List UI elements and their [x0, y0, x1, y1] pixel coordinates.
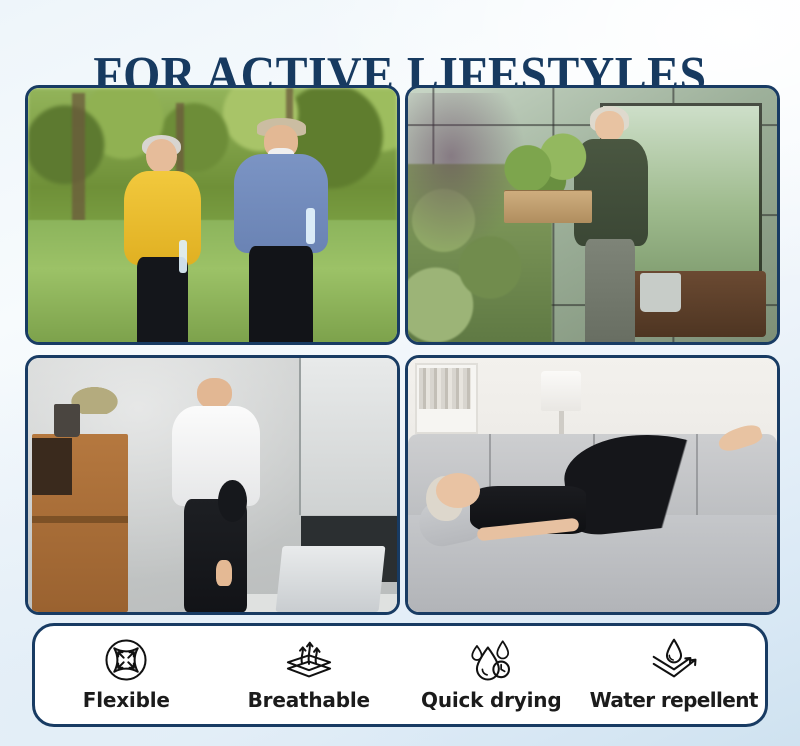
feature-flexible: Flexible [35, 626, 218, 724]
white-tshirt [172, 406, 260, 505]
water-drop-clock-icon [465, 634, 517, 686]
wooden-crate [504, 190, 593, 223]
laptop [275, 546, 385, 612]
photo-grid [25, 85, 780, 615]
feature-label: Flexible [83, 688, 170, 712]
figure-senior-man [227, 118, 334, 342]
photo-card-stretching-man [25, 355, 400, 615]
feature-label: Water repellent [590, 688, 758, 712]
photo-gardening-woman [408, 88, 777, 342]
feature-water-repellent: Water repellent [583, 626, 766, 724]
feature-label: Quick drying [421, 688, 561, 712]
head [197, 378, 232, 409]
black-trousers [249, 246, 313, 342]
books [419, 368, 471, 409]
raised-knee [218, 480, 247, 523]
clipped-top-text [0, 0, 800, 3]
head [436, 473, 480, 507]
stretch-arrows-icon [101, 634, 151, 686]
yellow-sweater [124, 171, 201, 264]
park-lawn [28, 220, 397, 342]
poster-root: FOR ACTIVE LIFESTYLES [0, 0, 800, 746]
wall-panel [299, 358, 397, 515]
photo-card-walking-couple [25, 85, 400, 345]
photo-stretching-man [28, 358, 397, 612]
head [146, 139, 177, 174]
photo-walking-couple [28, 88, 397, 342]
feature-bar: Flexible Breathable [32, 623, 768, 727]
potted-herbs [497, 129, 600, 195]
water-repellent-icon [645, 634, 703, 686]
cabinet-shelf-divider [32, 516, 128, 523]
feature-breathable: Breathable [218, 626, 401, 724]
photo-card-sofa-woman [405, 355, 780, 615]
feature-label: Breathable [248, 688, 370, 712]
wooden-cabinet [32, 434, 128, 612]
grey-trousers [585, 239, 635, 342]
figure-reclining-woman [423, 449, 762, 581]
tree-trunk [72, 93, 85, 225]
figure-senior-woman [117, 139, 209, 342]
photo-sofa-woman [408, 358, 777, 612]
water-bottle [306, 208, 315, 244]
bare-foot [216, 560, 231, 586]
glass-vase [54, 404, 80, 437]
breathable-fabric-icon [281, 634, 337, 686]
figure-stretching-man [168, 376, 264, 612]
cabinet-open-shelf [32, 438, 72, 495]
water-bottle [179, 240, 186, 273]
feature-quick-drying: Quick drying [400, 626, 583, 724]
photo-card-gardening-woman [405, 85, 780, 345]
floor-lamp-shade [541, 371, 582, 412]
